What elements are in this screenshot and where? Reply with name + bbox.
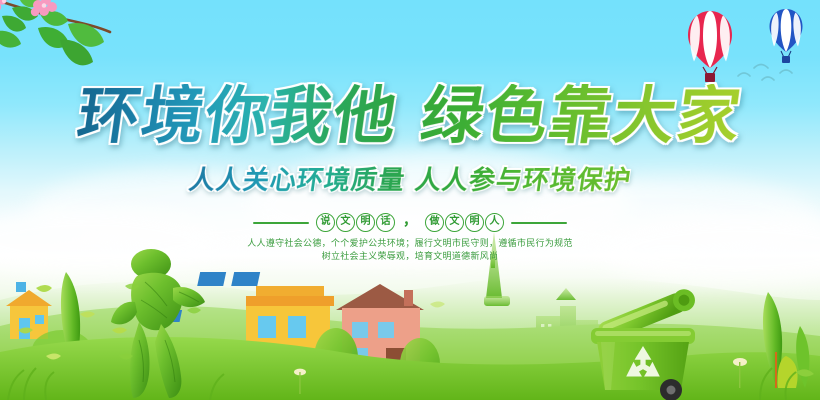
- slogan-char: 做: [425, 213, 444, 232]
- body-line: 树立社会主义荣辱观，培育文明道德新风尚: [0, 251, 820, 264]
- slogan-char: 说: [316, 213, 335, 232]
- cypress-tree-left: [61, 272, 80, 372]
- red-hot-air-balloon: [686, 10, 734, 84]
- leaf-person-walking-icon: [95, 248, 225, 400]
- blue-hot-air-balloon: [768, 8, 804, 64]
- slogan-char: 明: [465, 213, 484, 232]
- slogan-separator: ，: [402, 210, 418, 235]
- floating-leaf: [18, 285, 445, 360]
- slogan-rule-left: [253, 222, 309, 224]
- headline-container: 环境你我他 绿色靠大家: [0, 84, 820, 148]
- slogan-char: 明: [356, 213, 375, 232]
- body-line: 人人遵守社会公德，个个爱护公共环境；履行文明市民守则，遵循市民行为规范: [0, 238, 820, 251]
- cypress-tree-right: [763, 292, 814, 388]
- slogan-char: 话: [376, 213, 395, 232]
- eco-poster: 环境你我他 绿色靠大家 人人关心环境质量 人人参与环境保护 说 文 明 话 ， …: [0, 0, 820, 400]
- slogan-chars-right: 做 文 明 人: [425, 213, 504, 232]
- subtitle-container: 人人关心环境质量 人人参与环境保护: [0, 166, 820, 196]
- poster-subtitle: 人人关心环境质量 人人参与环境保护: [187, 166, 633, 196]
- poster-headline: 环境你我他 绿色靠大家: [74, 84, 747, 148]
- small-yellow-house: [6, 282, 52, 339]
- slogan-rule-right: [511, 222, 567, 224]
- pink-eco-house: [336, 284, 424, 382]
- cherry-blossom-branch-icon: [0, 0, 134, 76]
- slogan-char: 文: [445, 213, 464, 232]
- slogan-char: 人: [485, 213, 504, 232]
- slogan-char: 文: [336, 213, 355, 232]
- body-copy: 人人遵守社会公德，个个爱护公共环境；履行文明市民守则，遵循市民行为规范 树立社会…: [0, 238, 820, 264]
- slogan-chars-left: 说 文 明 话: [316, 213, 395, 232]
- slogan-banner: 说 文 明 话 ， 做 文 明 人: [0, 210, 820, 235]
- green-recycle-bin-icon: [585, 276, 705, 400]
